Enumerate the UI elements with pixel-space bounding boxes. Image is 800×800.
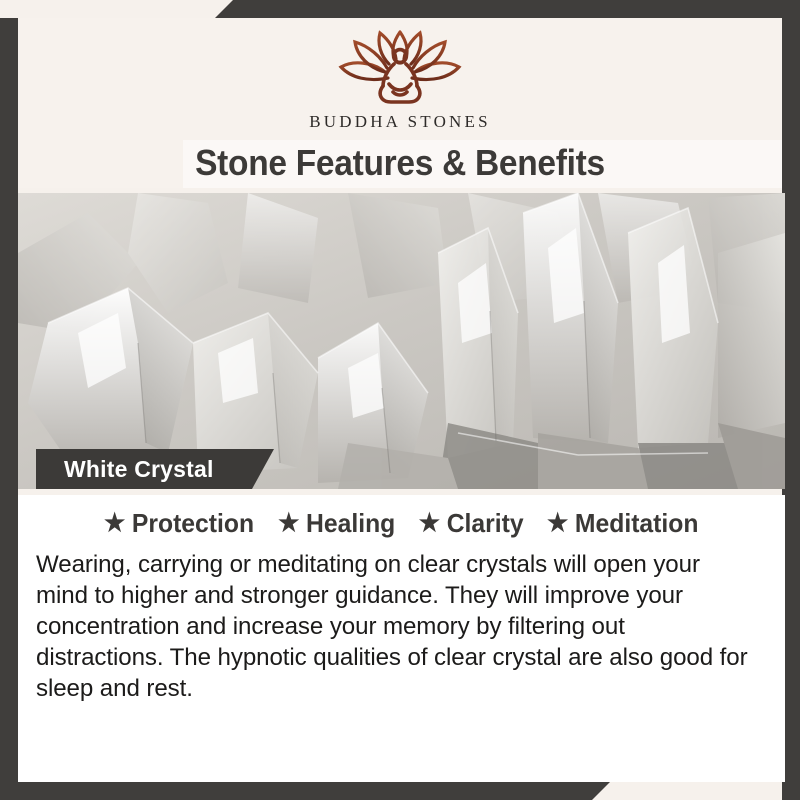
stone-photo: White Crystal (18, 193, 785, 489)
star-icon: ★ (104, 511, 125, 536)
brand-logo: BUDDHA STONES (18, 26, 782, 132)
poster-root: BUDDHA STONES Stone Features & Benefits (0, 0, 800, 800)
benefit-label: Protection (132, 508, 254, 539)
benefit-item-clarity: ★ Clarity (419, 508, 524, 539)
star-icon: ★ (547, 511, 568, 536)
frame-left-bar (0, 18, 18, 782)
stone-name-label: White Crystal (36, 456, 214, 483)
frame-top-bar (215, 0, 800, 18)
clear-quartz-crystal-cluster-photo-icon (18, 193, 785, 489)
benefit-label: Clarity (446, 508, 523, 539)
benefit-item-protection: ★ Protection (104, 508, 254, 539)
star-icon: ★ (279, 511, 300, 536)
benefits-list: ★ Protection ★ Healing ★ Clarity ★ Medit… (18, 495, 785, 539)
benefit-label: Meditation (575, 508, 698, 539)
description-paragraph: Wearing, carrying or meditating on clear… (36, 549, 756, 705)
benefit-item-meditation: ★ Meditation (547, 508, 698, 539)
benefit-label: Healing (306, 508, 395, 539)
header: BUDDHA STONES Stone Features & Benefits (18, 18, 782, 188)
benefit-item-healing: ★ Healing (279, 508, 396, 539)
content-panel: ★ Protection ★ Healing ★ Clarity ★ Medit… (18, 495, 785, 782)
page-title: Stone Features & Benefits (45, 138, 756, 188)
frame-bottom-bar (0, 782, 610, 800)
lotus-meditation-logo-icon (325, 26, 475, 110)
brand-name: BUDDHA STONES (309, 112, 491, 132)
stone-name-banner: White Crystal (36, 449, 274, 489)
star-icon: ★ (419, 511, 440, 536)
